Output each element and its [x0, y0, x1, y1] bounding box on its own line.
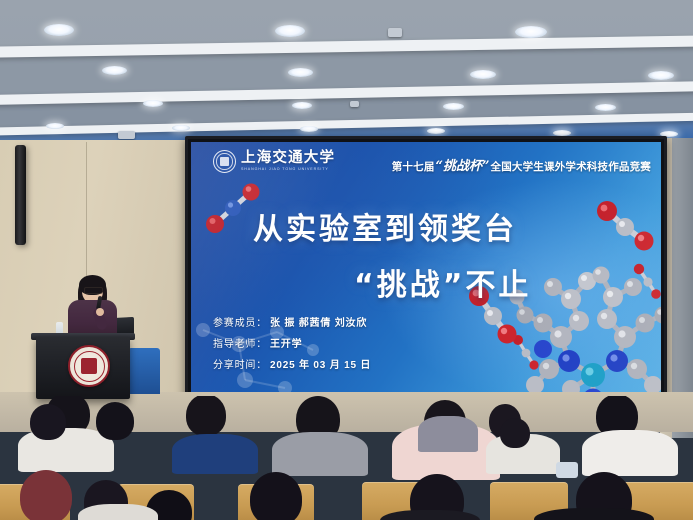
recessed-downlight-icon [470, 70, 496, 79]
carbon-dioxide-molecule-icon [509, 332, 543, 374]
presenter-hand [96, 308, 104, 316]
recessed-downlight-icon [427, 128, 445, 134]
presenter-glasses [84, 287, 103, 294]
info-value: 张 振 郝茜倩 刘汝欣 [270, 314, 367, 329]
university-name-en: SHANGHAI JIAO TONG UNIVERSITY [241, 168, 335, 172]
slide-title-line2: “挑战”不止 [354, 260, 531, 304]
header-prefix: 第十七届 [392, 159, 435, 174]
audience-shoulders [534, 508, 654, 520]
smoke-detector-icon [388, 28, 402, 37]
audience-shoulders [582, 430, 678, 476]
audience-shoulders [172, 434, 258, 474]
recessed-downlight-icon [46, 123, 64, 129]
wall-speaker [15, 145, 26, 245]
audience-head [30, 404, 66, 440]
ceiling [0, 0, 693, 150]
stage-chair [128, 348, 160, 394]
audience-head [20, 470, 72, 520]
carbon-dioxide-molecule-icon [629, 260, 661, 304]
info-row-advisor: 指导老师： 王开学 [213, 335, 371, 350]
info-row-members: 参赛成员： 张 振 郝茜倩 刘汝欣 [213, 314, 371, 329]
university-crest-emblem [68, 345, 110, 387]
info-value: 2025 年 03 月 15 日 [270, 356, 371, 371]
recessed-downlight-icon [275, 25, 305, 37]
smoke-detector-icon [350, 101, 359, 107]
audience-shoulders [78, 504, 158, 520]
recessed-downlight-icon [288, 68, 313, 77]
recessed-downlight-icon [172, 125, 190, 131]
info-label: 指导老师： [213, 335, 267, 350]
slide-info-block: 参赛成员： 张 振 郝茜倩 刘汝欣 指导老师： 王开学 分享时间： 2025 年… [213, 314, 371, 371]
audience-head [96, 402, 134, 440]
projector-mount [118, 131, 135, 139]
recessed-downlight-icon [515, 26, 547, 38]
info-label: 分享时间： [213, 356, 267, 371]
recessed-downlight-icon [292, 102, 312, 109]
audience-shoulders [380, 510, 480, 520]
audience-laptop [556, 462, 578, 478]
audience-head [186, 396, 226, 436]
university-logo: 上海交通大学 SHANGHAI JIAO TONG UNIVERSITY [213, 150, 335, 173]
slide-title-line1: 从实验室到领奖台 [253, 204, 517, 248]
recessed-downlight-icon [143, 100, 163, 107]
audience-head [250, 472, 302, 520]
university-seal-icon [213, 150, 236, 173]
header-emphasis: “挑战杯” [435, 155, 491, 174]
info-row-date: 分享时间： 2025 年 03 月 15 日 [213, 356, 371, 371]
recessed-downlight-icon [595, 104, 616, 111]
carbon-dioxide-molecule-icon [589, 197, 661, 262]
recessed-downlight-icon [300, 126, 318, 132]
audience-shoulders [418, 416, 478, 452]
audience-head [500, 418, 530, 448]
recessed-downlight-icon [44, 24, 74, 36]
header-suffix: 全国大学生课外学术科技作品竞赛 [491, 159, 652, 174]
competition-header: 第十七届 “挑战杯” 全国大学生课外学术科技作品竞赛 [392, 155, 651, 174]
audience-shoulders [272, 432, 368, 476]
recessed-downlight-icon [443, 103, 464, 110]
audience [0, 396, 693, 520]
university-name-cn: 上海交通大学 [241, 151, 335, 166]
info-label: 参赛成员： [213, 314, 267, 329]
presentation-slide: 上海交通大学 SHANGHAI JIAO TONG UNIVERSITY 第十七… [191, 142, 661, 401]
recessed-downlight-icon [648, 71, 674, 80]
info-value: 王开学 [270, 335, 302, 350]
ball-and-stick-molecule-icon [509, 257, 661, 401]
photo-scene: 上海交通大学 SHANGHAI JIAO TONG UNIVERSITY 第十七… [0, 0, 693, 520]
presenter [62, 278, 122, 340]
recessed-downlight-icon [102, 66, 127, 75]
